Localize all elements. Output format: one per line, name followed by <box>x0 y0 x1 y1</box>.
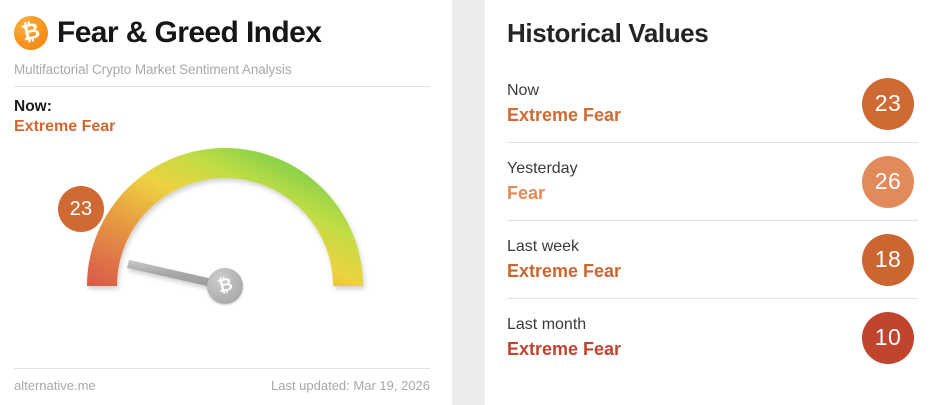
historical-row-classification: Extreme Fear <box>507 336 621 362</box>
historical-row: Last weekExtreme Fear18 <box>507 221 918 299</box>
historical-row: YesterdayFear26 <box>507 143 918 221</box>
bitcoin-icon: ₿ <box>14 16 48 50</box>
now-block: Now: Extreme Fear <box>14 98 434 136</box>
historical-row: NowExtreme Fear23 <box>507 65 918 143</box>
now-value: Extreme Fear <box>14 117 434 137</box>
historical-row-label: Last month <box>507 313 621 336</box>
historical-row-badge: 18 <box>862 234 914 286</box>
last-updated-label: Last updated: Mar 19, 2026 <box>271 378 430 393</box>
bitcoin-glyph: ₿ <box>20 20 42 45</box>
now-label: Now: <box>14 98 434 117</box>
historical-row-badge: 10 <box>862 312 914 364</box>
header: ₿ Fear & Greed Index <box>14 12 434 54</box>
historical-row-classification: Extreme Fear <box>507 258 621 284</box>
historical-row-label: Now <box>507 79 621 102</box>
footer: alternative.me Last updated: Mar 19, 202… <box>14 368 430 393</box>
historical-row-label: Yesterday <box>507 157 578 180</box>
bitcoin-icon: ₿ <box>216 276 234 297</box>
historical-row-classification: Fear <box>507 180 578 206</box>
header-divider <box>14 86 430 87</box>
historical-row: Last monthExtreme Fear10 <box>507 299 918 376</box>
historical-row-text: NowExtreme Fear <box>507 79 621 128</box>
gauge-arc <box>14 138 434 353</box>
historical-row-text: Last weekExtreme Fear <box>507 235 621 284</box>
historical-list: NowExtreme Fear23YesterdayFear26Last wee… <box>507 65 918 376</box>
historical-panel: Historical Values NowExtreme Fear23Yeste… <box>485 0 940 405</box>
source-label[interactable]: alternative.me <box>14 378 96 393</box>
historical-row-classification: Extreme Fear <box>507 102 621 128</box>
panel-separator <box>452 0 485 405</box>
page-title: Fear & Greed Index <box>57 18 321 48</box>
page-subtitle: Multifactorial Crypto Market Sentiment A… <box>14 62 434 77</box>
fear-greed-widget: ₿ Fear & Greed Index Multifactorial Cryp… <box>0 0 940 405</box>
historical-row-badge: 26 <box>862 156 914 208</box>
footer-divider <box>14 368 430 369</box>
historical-row-text: YesterdayFear <box>507 157 578 206</box>
historical-row-label: Last week <box>507 235 621 258</box>
historical-title: Historical Values <box>507 18 918 49</box>
historical-row-badge: 23 <box>862 78 914 130</box>
gauge: 23 ₿ <box>14 138 434 353</box>
historical-row-text: Last monthExtreme Fear <box>507 313 621 362</box>
gauge-panel: ₿ Fear & Greed Index Multifactorial Cryp… <box>0 0 452 405</box>
